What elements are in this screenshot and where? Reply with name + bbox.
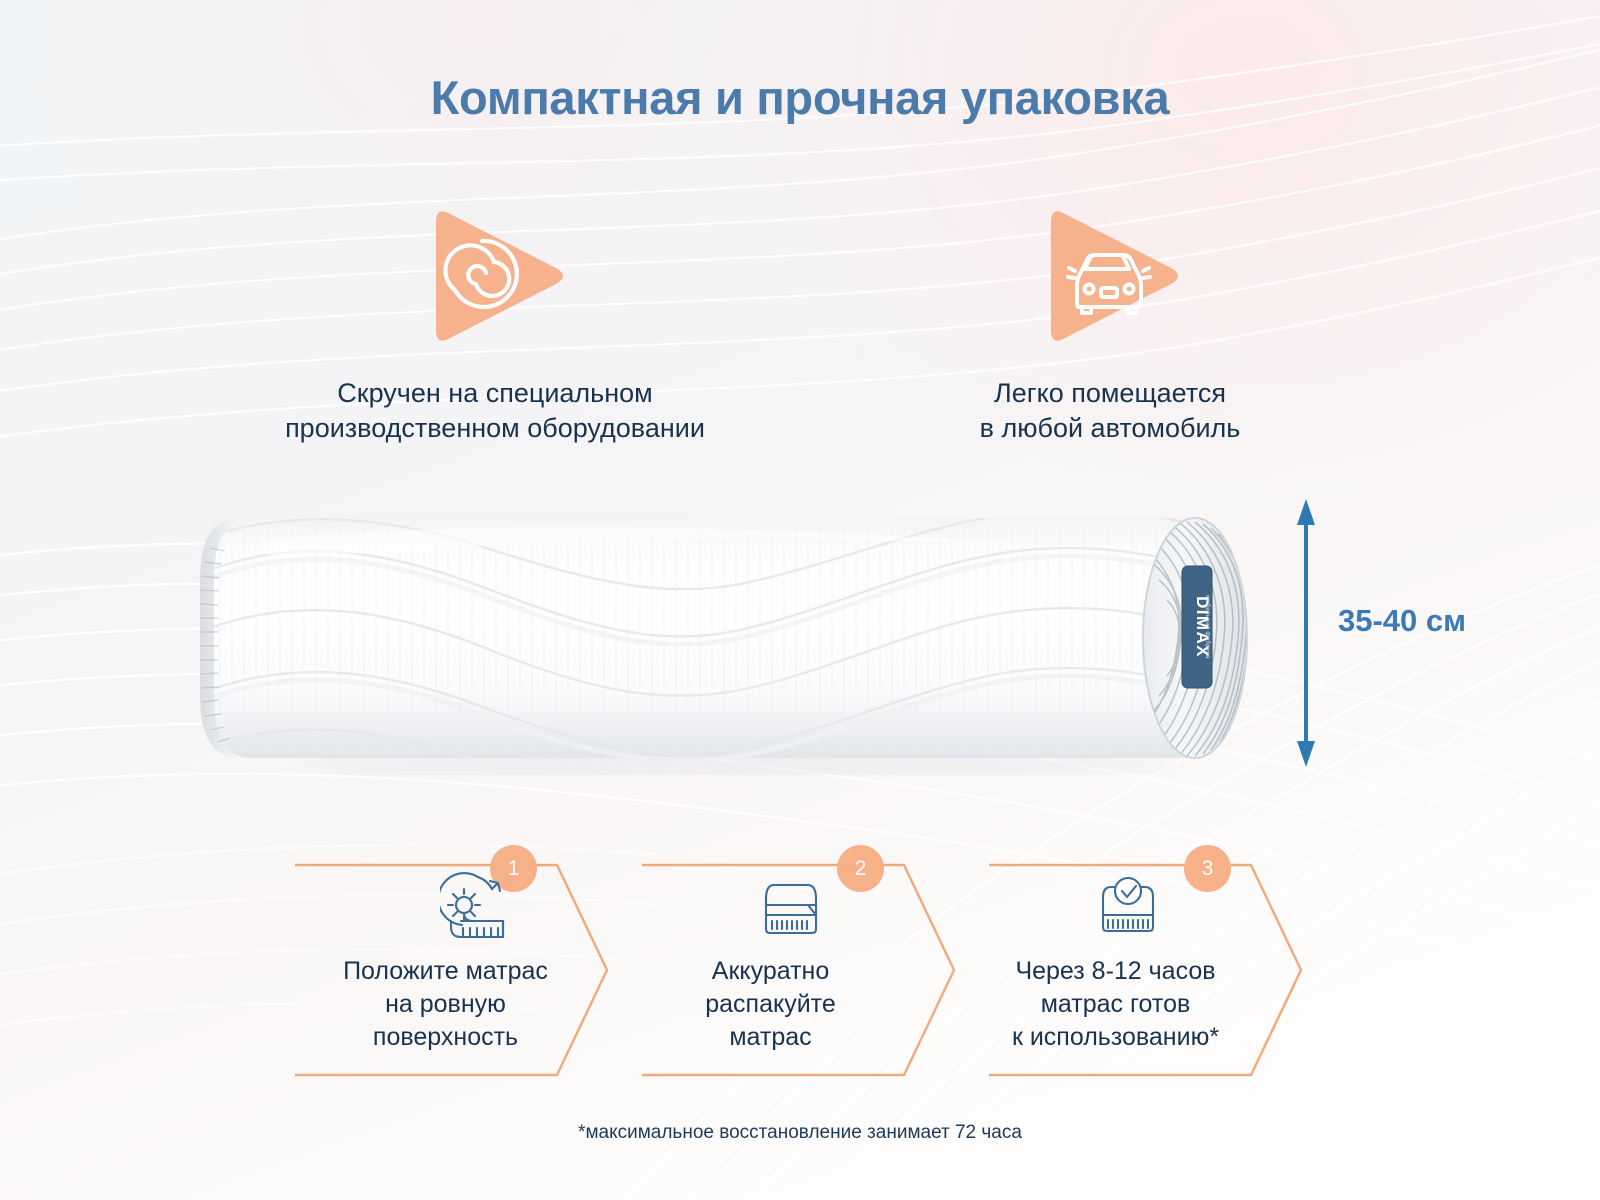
height-dimension: 35-40 см <box>1280 495 1510 770</box>
feature-block-car: Легко помещается в любой автомобиль <box>840 200 1380 445</box>
step-text: Аккуратно распакуйте матрас <box>598 955 943 1054</box>
step-text: Через 8-12 часов матрас готов к использо… <box>943 955 1288 1054</box>
measuring-tape-roll-icon <box>440 867 518 945</box>
dimension-label: 35-40 см <box>1338 603 1466 639</box>
svg-text:мебельная фабрика: мебельная фабрика <box>1204 595 1211 659</box>
spiral-roll-icon <box>410 200 580 350</box>
step-number-badge: 2 <box>837 845 884 892</box>
feature-caption: Скручен на специальном производственном … <box>190 376 800 445</box>
step-text: Положите матрас на ровную поверхность <box>273 955 618 1054</box>
infographic-canvas: Компактная и прочная упаковка Скручен на… <box>0 0 1600 1200</box>
step-item: 1 Положите матрас на ро <box>295 845 640 1095</box>
steps-row: 1 Положите матрас на ро <box>295 845 1305 1095</box>
feature-caption: Легко помещается в любой автомобиль <box>840 376 1380 445</box>
footnote-text: *максимальное восстановление занимает 72… <box>0 1122 1600 1144</box>
brand-tag: DIMAX мебельная фабрика <box>1182 566 1212 688</box>
mattress-check-icon <box>1089 867 1167 945</box>
car-front-icon <box>1025 200 1195 350</box>
rolled-mattress-image: DIMAX мебельная фабрика <box>180 500 1290 775</box>
step-item: 3 Через 8-12 часов матрас готов к исполь… <box>989 845 1334 1095</box>
step-item: 2 Аккуратно распакуйте матрас <box>642 845 987 1095</box>
step-number-badge: 3 <box>1184 845 1231 892</box>
feature-block-rolled: Скручен на специальном производственном … <box>190 200 800 445</box>
page-title: Компактная и прочная упаковка <box>0 70 1600 125</box>
unpack-mattress-icon <box>752 867 830 945</box>
